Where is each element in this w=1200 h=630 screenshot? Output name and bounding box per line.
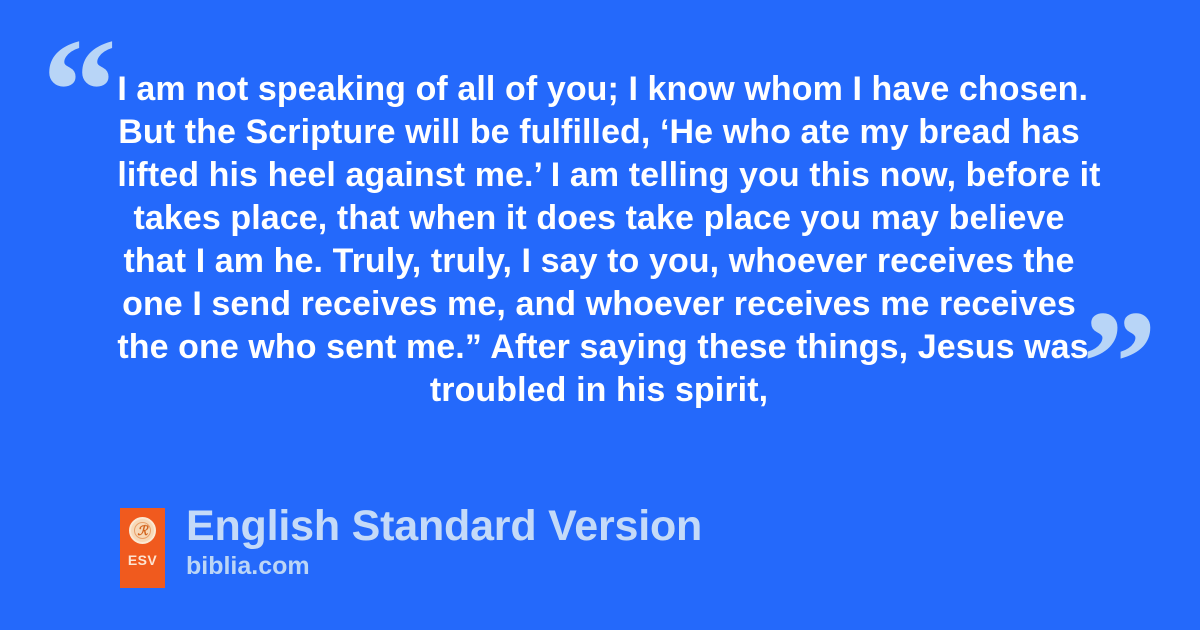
seal-monogram: ℛ (137, 524, 147, 537)
quote-line: I am not speaking of all of you; I know … (117, 68, 1080, 111)
quote-line: takes place, that when it does take plac… (117, 197, 1080, 240)
site-url-label: biblia.com (186, 552, 702, 580)
esv-logo: ℛ ESV (120, 508, 165, 588)
quote-line: troubled in his spirit, (117, 369, 1080, 412)
quote-line: the one who sent me.” After saying these… (117, 326, 1080, 369)
attribution-text: English Standard Version biblia.com (186, 508, 702, 580)
esv-logo-abbreviation: ESV (128, 553, 157, 567)
quote-line: lifted his heel against me.’ I am tellin… (117, 154, 1080, 197)
attribution-footer: ℛ ESV English Standard Version biblia.co… (120, 508, 702, 588)
closing-quote-icon: ” (1082, 288, 1155, 438)
opening-quote-icon: “ (42, 16, 115, 166)
quote-line: one I send receives me, and whoever rece… (117, 283, 1080, 326)
verse-quote-card: “ I am not speaking of all of you; I kno… (0, 0, 1200, 630)
quote-line: that I am he. Truly, truly, I say to you… (117, 240, 1080, 283)
bible-version-title: English Standard Version (186, 504, 702, 549)
esv-seal-icon: ℛ (129, 517, 156, 544)
quote-text-block: I am not speaking of all of you; I know … (110, 68, 1088, 412)
quote-line: But the Scripture will be fulfilled, ‘He… (117, 111, 1080, 154)
